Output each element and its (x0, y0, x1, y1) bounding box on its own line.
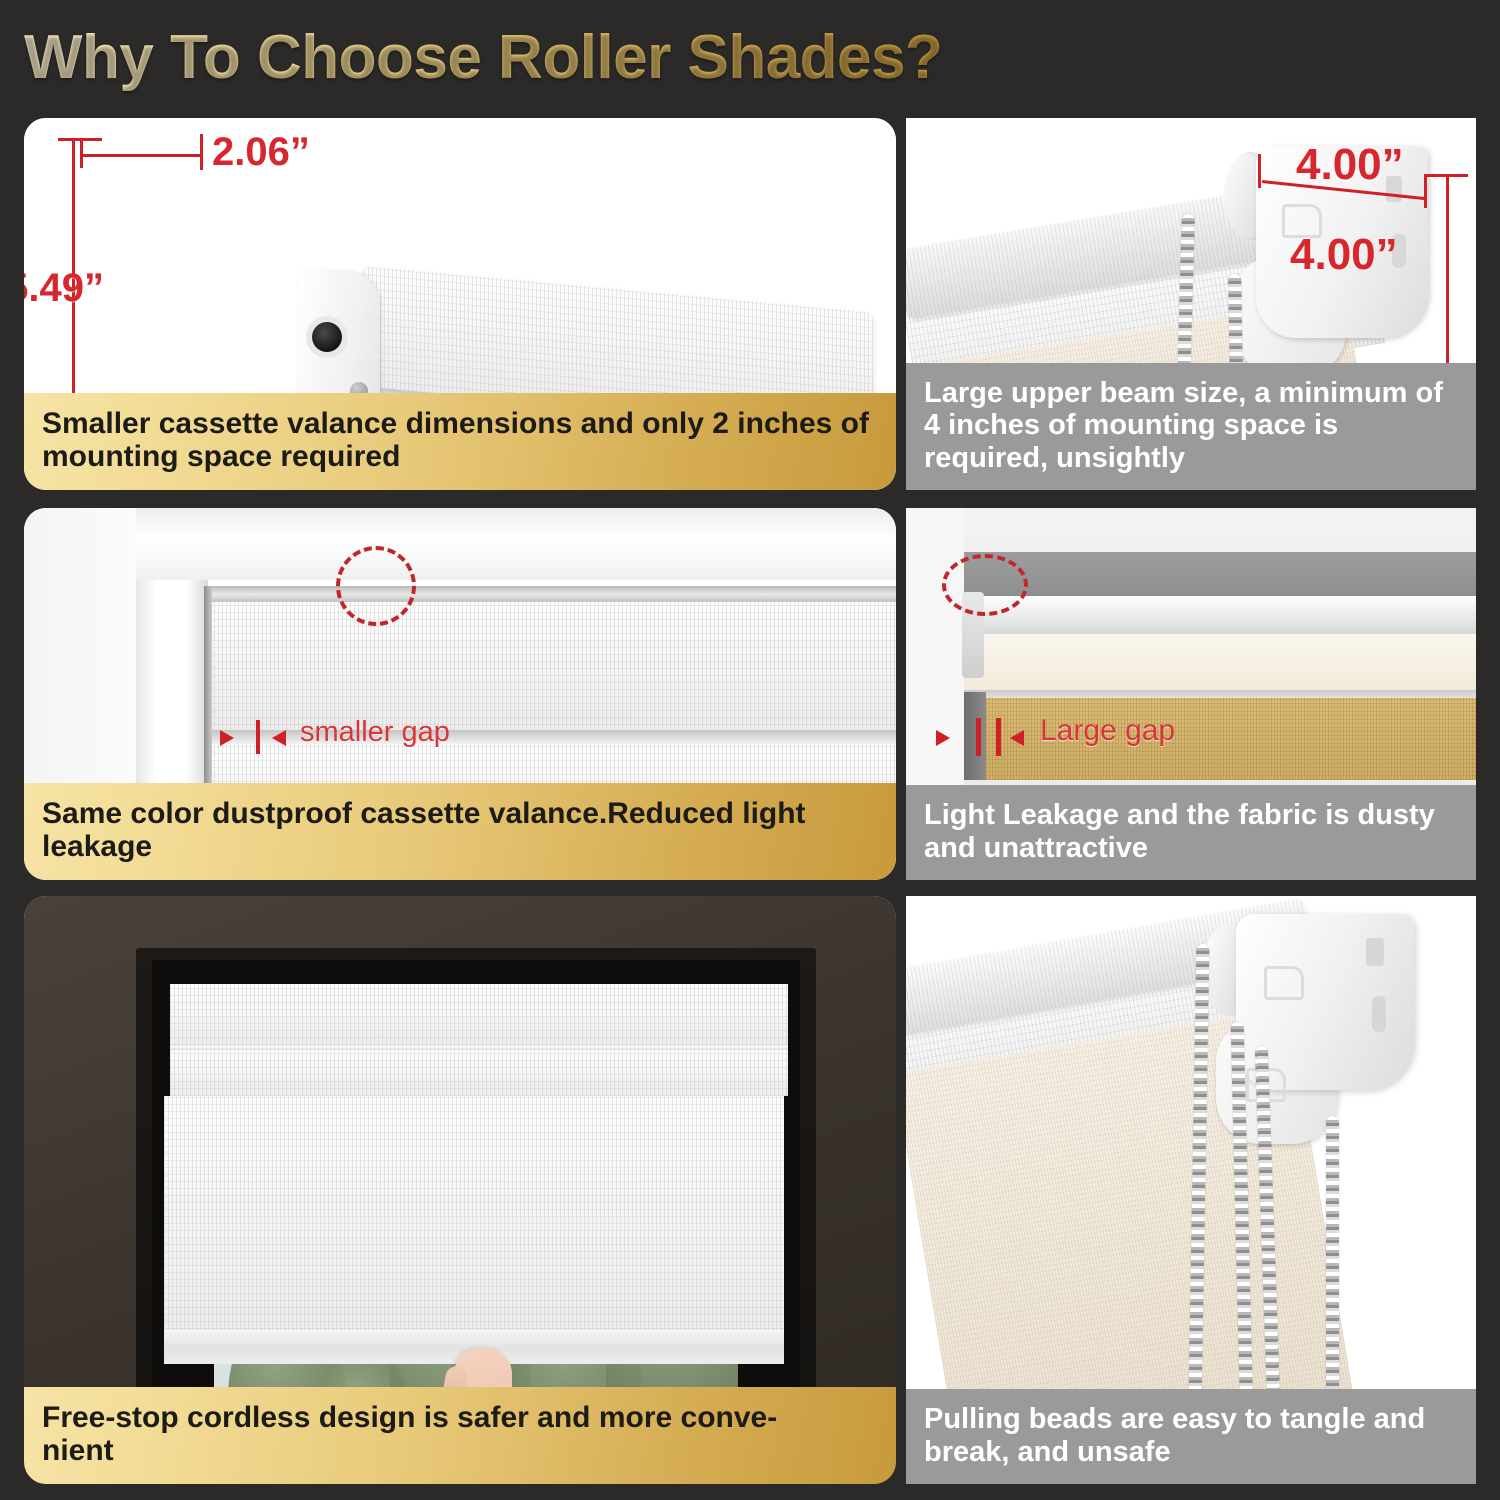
width-dimension-label-top: 4.00” (1296, 140, 1404, 190)
width-dimension-label: 2.06” (212, 130, 310, 175)
valance-lower-lip (170, 1050, 788, 1096)
panel-caption: Smaller cassette valance dimensions and … (24, 393, 896, 490)
page-title: Why To Choose Roller Shades? (24, 22, 942, 93)
head-rail (210, 586, 896, 602)
panel-caption: Pulling beads are easy to tangle and bre… (906, 1389, 1476, 1484)
gap-tick (976, 718, 981, 756)
ceiling-shadow (964, 552, 1476, 598)
valance (964, 634, 1476, 692)
shade-fabric (164, 1096, 784, 1336)
header: Why To Choose Roller Shades? (24, 14, 1024, 100)
panel-caption: Free-stop cordless design is safer and m… (24, 1387, 896, 1484)
gap-arrow-left-icon (1010, 730, 1024, 746)
width-dimension-tick (1424, 176, 1427, 208)
gap-tick (996, 718, 1001, 756)
panel-smaller-cassette: 2.06” 5.49” Smaller cassette valance dim… (24, 118, 896, 490)
height-dimension-label: 4.00” (1290, 230, 1398, 280)
width-dimension-line (82, 154, 202, 157)
panel-caption-line-2: nient (42, 1434, 878, 1468)
panel-light-leakage: Large gap Light Leakage and the fabric i… (906, 508, 1476, 880)
gap-arrow-right-icon (220, 730, 234, 746)
panel-cordless-design: Free-stop cordless design is safer and m… (24, 896, 896, 1484)
panel-large-upper-beam: 4.00” 4.00” Large upper beam size, a min… (906, 118, 1476, 490)
bracket-embossing (1264, 966, 1304, 1000)
width-dimension-tick (80, 140, 83, 168)
window-frame-top (136, 508, 896, 580)
height-dimension-label: 5.49” (24, 266, 104, 311)
gap-callout-label: smaller gap (300, 716, 450, 749)
height-dimension-tick (1424, 174, 1468, 177)
panel-caption: Large upper beam size, a minimum of 4 in… (906, 363, 1476, 490)
cassette-valance (210, 602, 896, 732)
gap-callout-label: Large gap (1040, 714, 1175, 748)
light-gap (964, 692, 986, 780)
highlight-circle (942, 554, 1028, 616)
gap-tick (256, 720, 260, 754)
height-dimension-tick (58, 138, 102, 141)
panel-caption: Light Leakage and the fabric is dusty an… (906, 785, 1476, 880)
height-dimension-line (1446, 176, 1449, 366)
width-dimension-tick (200, 134, 203, 170)
panel-caption: Same color dustproof cassette valance.Re… (24, 783, 896, 880)
width-dimension-tick (1258, 154, 1261, 188)
gap-arrow-left-icon (272, 730, 286, 746)
gap-arrow-right-icon (936, 730, 950, 746)
cassette-valance (170, 984, 788, 1052)
panel-caption-line-1: Free-stop cordless design is safer and m… (42, 1401, 878, 1435)
panel-dustproof-valance: smaller gap Same color dustproof cassett… (24, 508, 896, 880)
panel-pulling-beads: Pulling beads are easy to tangle and bre… (906, 896, 1476, 1484)
highlight-circle (336, 546, 416, 626)
